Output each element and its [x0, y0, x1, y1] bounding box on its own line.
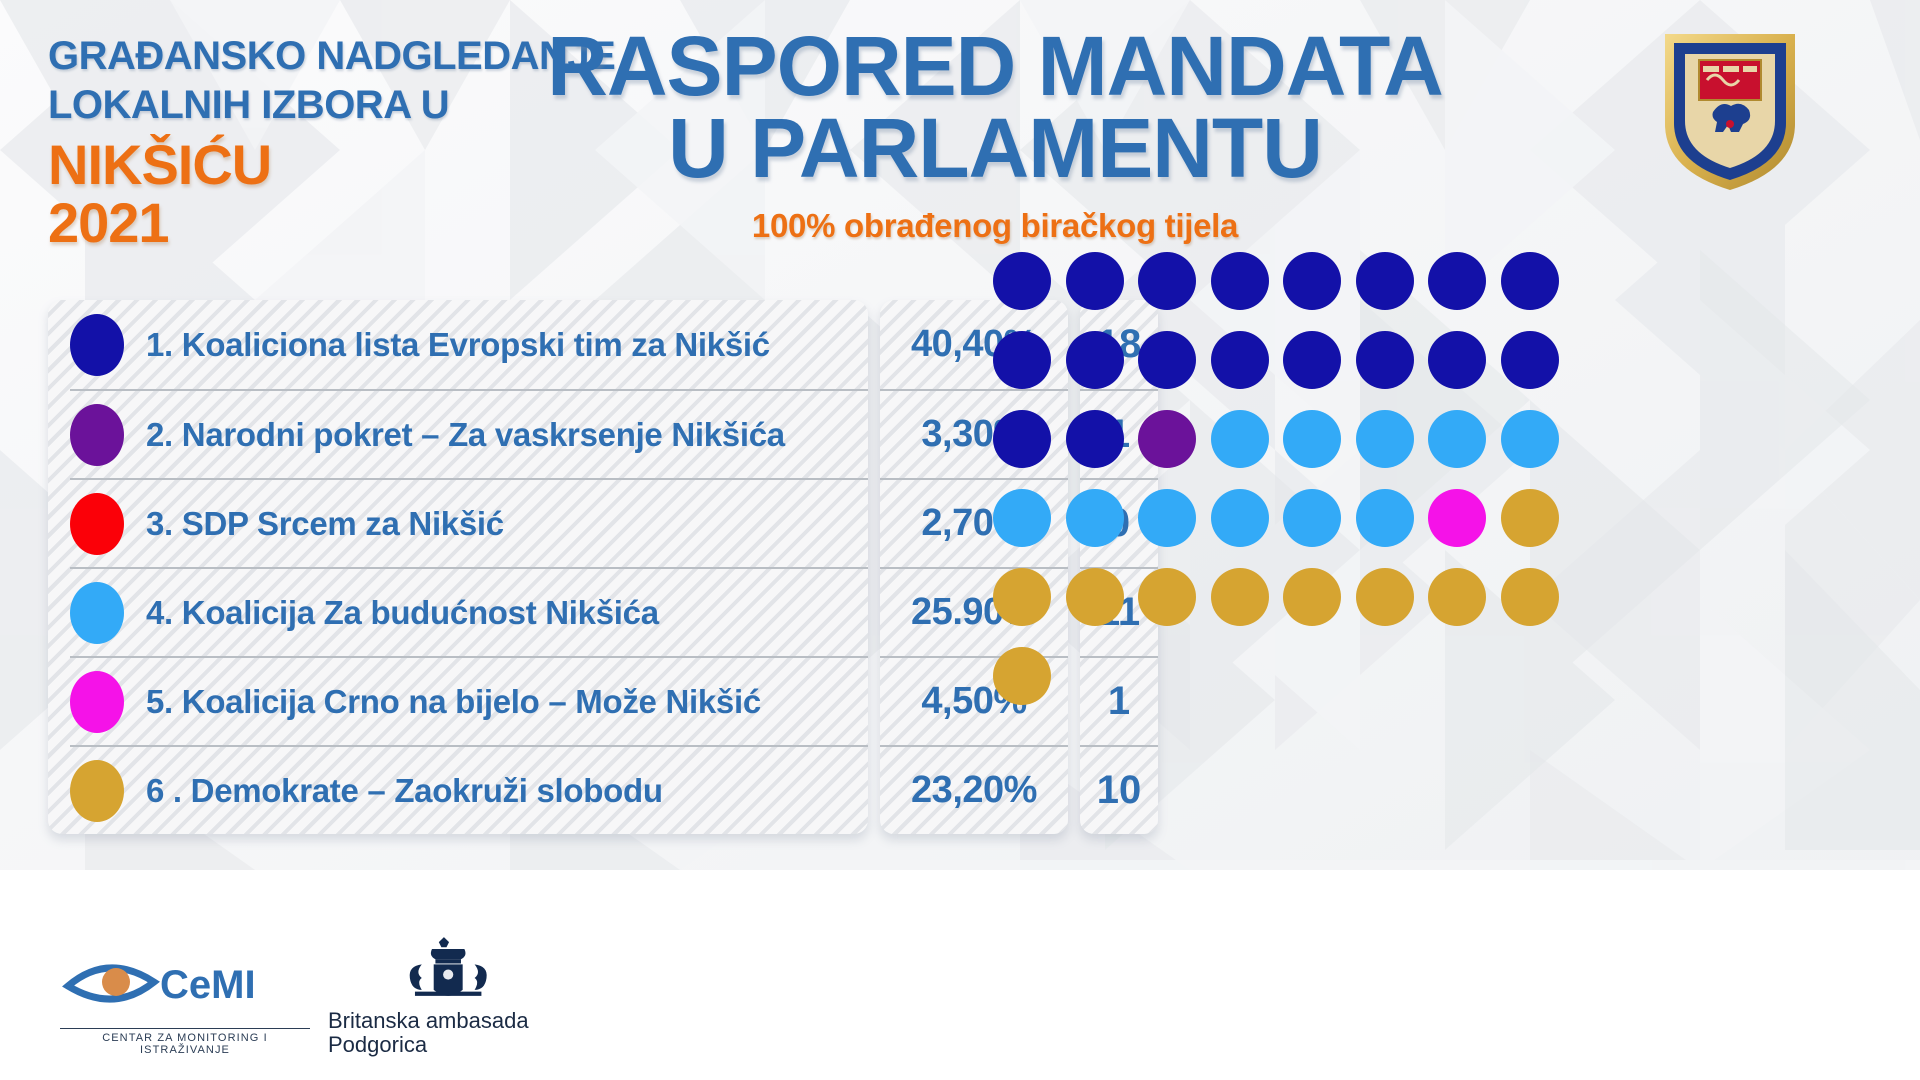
seat-dot [1066, 568, 1124, 626]
table-row: 6 . Demokrate – Zaokruži slobodu [70, 745, 868, 834]
page-title-block: RASPORED MANDATA U PARLAMENTU 100% obrađ… [470, 24, 1520, 245]
party-percent: 23,20% [880, 769, 1068, 812]
seat-dot [1066, 489, 1124, 547]
seat-dot [1138, 331, 1196, 389]
seat-dot [1283, 331, 1341, 389]
seat-dot [1138, 410, 1196, 468]
table-row: 23,20% [880, 745, 1068, 834]
cemi-tagline: CENTAR ZA MONITORING I ISTRAŽIVANJE [60, 1028, 310, 1056]
table-row: 4. Koalicija Za budućnost Nikšića [70, 567, 868, 656]
party-color-dot [70, 493, 124, 555]
party-seats: 10 [1080, 768, 1158, 813]
svg-text:CeMI: CeMI [160, 963, 256, 1007]
party-name: 4. Koalicija Za budućnost Nikšića [146, 594, 659, 632]
seat-dot [1138, 568, 1196, 626]
seat-dot [1283, 568, 1341, 626]
page-title-line1: RASPORED MANDATA [470, 24, 1520, 110]
party-color-dot [70, 582, 124, 644]
seat-dot [1428, 410, 1486, 468]
party-name: 3. SDP Srcem za Nikšić [146, 505, 504, 543]
seat-dot [1501, 252, 1559, 310]
seat-dot [1501, 568, 1559, 626]
seat-dot [1428, 568, 1486, 626]
table-row: 1. Koaliciona lista Evropski tim za Nikš… [48, 300, 868, 389]
table-row: 2. Narodni pokret – Za vaskrsenje Nikšić… [70, 389, 868, 478]
seat-dot [1283, 410, 1341, 468]
embassy-line1: Britanska ambasada [320, 1009, 590, 1034]
seat-dot [1428, 489, 1486, 547]
seat-dot [993, 252, 1051, 310]
seat-dot [1356, 410, 1414, 468]
seat-dot [1356, 331, 1414, 389]
party-color-dot [70, 671, 124, 733]
page-title-line2: U PARLAMENTU [470, 106, 1520, 192]
seat-dot [1211, 331, 1269, 389]
seat-dot [993, 568, 1051, 626]
party-names-column: 1. Koaliciona lista Evropski tim za Nikš… [48, 300, 868, 834]
seat-dot [993, 489, 1051, 547]
seat-dot [1211, 410, 1269, 468]
seat-dot [1501, 489, 1559, 547]
seat-dot [1501, 410, 1559, 468]
seat-dot [1283, 252, 1341, 310]
seat-dot [1066, 252, 1124, 310]
embassy-line2: Podgorica [320, 1033, 590, 1058]
british-embassy-logo: Britanska ambasada Podgorica [320, 935, 590, 1058]
party-color-dot [70, 760, 124, 822]
table-row: 5. Koalicija Crno na bijelo – Može Nikši… [70, 656, 868, 745]
seat-dot [1211, 489, 1269, 547]
party-color-dot [70, 404, 124, 466]
cemi-logo: CeMI CENTAR ZA MONITORING I ISTRAŽIVANJE [60, 946, 310, 1058]
seat-dot [1138, 252, 1196, 310]
seat-dot [1138, 489, 1196, 547]
seat-dot [1211, 252, 1269, 310]
seat-dot [1428, 331, 1486, 389]
seat-dot [1211, 568, 1269, 626]
party-name: 2. Narodni pokret – Za vaskrsenje Nikšić… [146, 416, 785, 454]
seat-dot [1356, 489, 1414, 547]
seat-dot [1356, 252, 1414, 310]
seat-dot [1501, 331, 1559, 389]
seat-dot [1066, 410, 1124, 468]
party-name: 6 . Demokrate – Zaokruži slobodu [146, 772, 663, 810]
seat-dot [993, 410, 1051, 468]
seat-dot [1356, 568, 1414, 626]
page-subtitle: 100% obrađenog biračkog tijela [470, 207, 1520, 245]
party-name: 1. Koaliciona lista Evropski tim za Nikš… [146, 326, 770, 364]
seat-dot [1428, 252, 1486, 310]
seat-dot [993, 647, 1051, 705]
seat-dot [993, 331, 1051, 389]
party-color-dot [70, 314, 124, 376]
seat-dot [1283, 489, 1341, 547]
seat-dot [1066, 331, 1124, 389]
parliament-seat-grid [986, 252, 1566, 705]
table-row: 10 [1080, 745, 1158, 834]
party-name: 5. Koalicija Crno na bijelo – Može Nikši… [146, 683, 761, 721]
table-row: 3. SDP Srcem za Nikšić [70, 478, 868, 567]
niksic-coat-of-arms-icon [1655, 20, 1805, 195]
